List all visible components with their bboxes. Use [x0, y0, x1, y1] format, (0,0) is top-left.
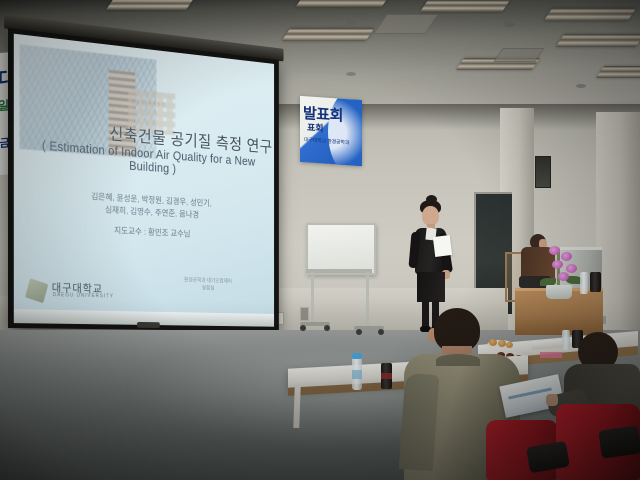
orchid-bloom: [549, 246, 560, 255]
screen-frame: business 신축건물 공기질 측정 연구 ( Estimation of …: [8, 28, 279, 331]
water-bottle-cap: [352, 353, 362, 359]
ceiling-light-icon: [106, 0, 194, 10]
banner-right: 발표회 표회 대구대학교 환경공학과: [300, 96, 362, 166]
ceiling-light-icon: [282, 28, 375, 41]
presenter-head: [422, 206, 439, 226]
whiteboard-caster-icon: [300, 325, 306, 331]
logo-mark-icon: [25, 278, 48, 303]
wall-speaker-icon: [535, 156, 551, 188]
whiteboard-caster-icon: [356, 329, 362, 335]
audience-man-collar: [436, 354, 480, 366]
slide-advisor: 지도교수 : 황민조 교수님: [33, 220, 263, 243]
orchid-bloom: [561, 252, 572, 261]
screen-weight-bar: [137, 322, 160, 328]
ceiling-fixture-icon: [346, 72, 356, 76]
orchid-pot: [546, 285, 572, 299]
ceiling-fixture-icon: [504, 22, 515, 27]
audience-man-arm: [399, 373, 440, 471]
whiteboard-caster-icon: [324, 325, 330, 331]
whiteboard-caster-icon: [378, 329, 384, 335]
slide-authors: 김은혜, 윤성운, 박정원, 김경우, 성민기, 심재희, 김영수, 주연준, …: [33, 187, 263, 225]
whiteboard-tray: [306, 269, 372, 273]
ceiling-light-icon: [420, 0, 510, 12]
ceiling-fixture-icon: [346, 20, 358, 25]
ceiling-light-icon: [544, 8, 637, 21]
orchid-bloom: [552, 260, 563, 269]
ceiling-light-icon: [556, 34, 640, 47]
water-bottle-label: [352, 370, 362, 379]
table-bottle: [580, 272, 588, 294]
presentation-photo: 대 일 (금) 발표회 표회 대구대학교 환경공학과 business 신축건물…: [0, 0, 640, 480]
presenter-skirt: [417, 272, 445, 302]
whiteboard-leg: [366, 272, 369, 328]
orchid-bloom: [566, 264, 577, 273]
slide-surface: business 신축건물 공기질 측정 연구 ( Estimation of …: [14, 34, 274, 314]
ceiling-fixture-icon: [576, 84, 586, 88]
ceiling-light-icon: [296, 0, 391, 7]
banner-right-subtitle: 표회: [307, 120, 324, 134]
whiteboard-leg: [311, 272, 314, 324]
reader-hand: [546, 394, 558, 406]
beverage-can-band: [381, 373, 392, 379]
table-can: [590, 272, 601, 292]
presenter-papers: [433, 235, 452, 257]
projection-screen: business 신축건물 공기질 측정 연구 ( Estimation of …: [8, 28, 279, 331]
whiteboard: [306, 223, 376, 275]
slide-department: 환경공학과 대기오염제어 실험실: [151, 276, 263, 294]
power-outlet: [300, 307, 309, 321]
seat-armrest: [598, 425, 640, 458]
university-logo: 대구대학교 DAEGU UNIVERSITY: [27, 278, 163, 309]
ceiling-light-icon: [596, 66, 640, 78]
orchid-bloom: [558, 272, 569, 281]
logo-name-en: DAEGU UNIVERSITY: [53, 292, 114, 299]
